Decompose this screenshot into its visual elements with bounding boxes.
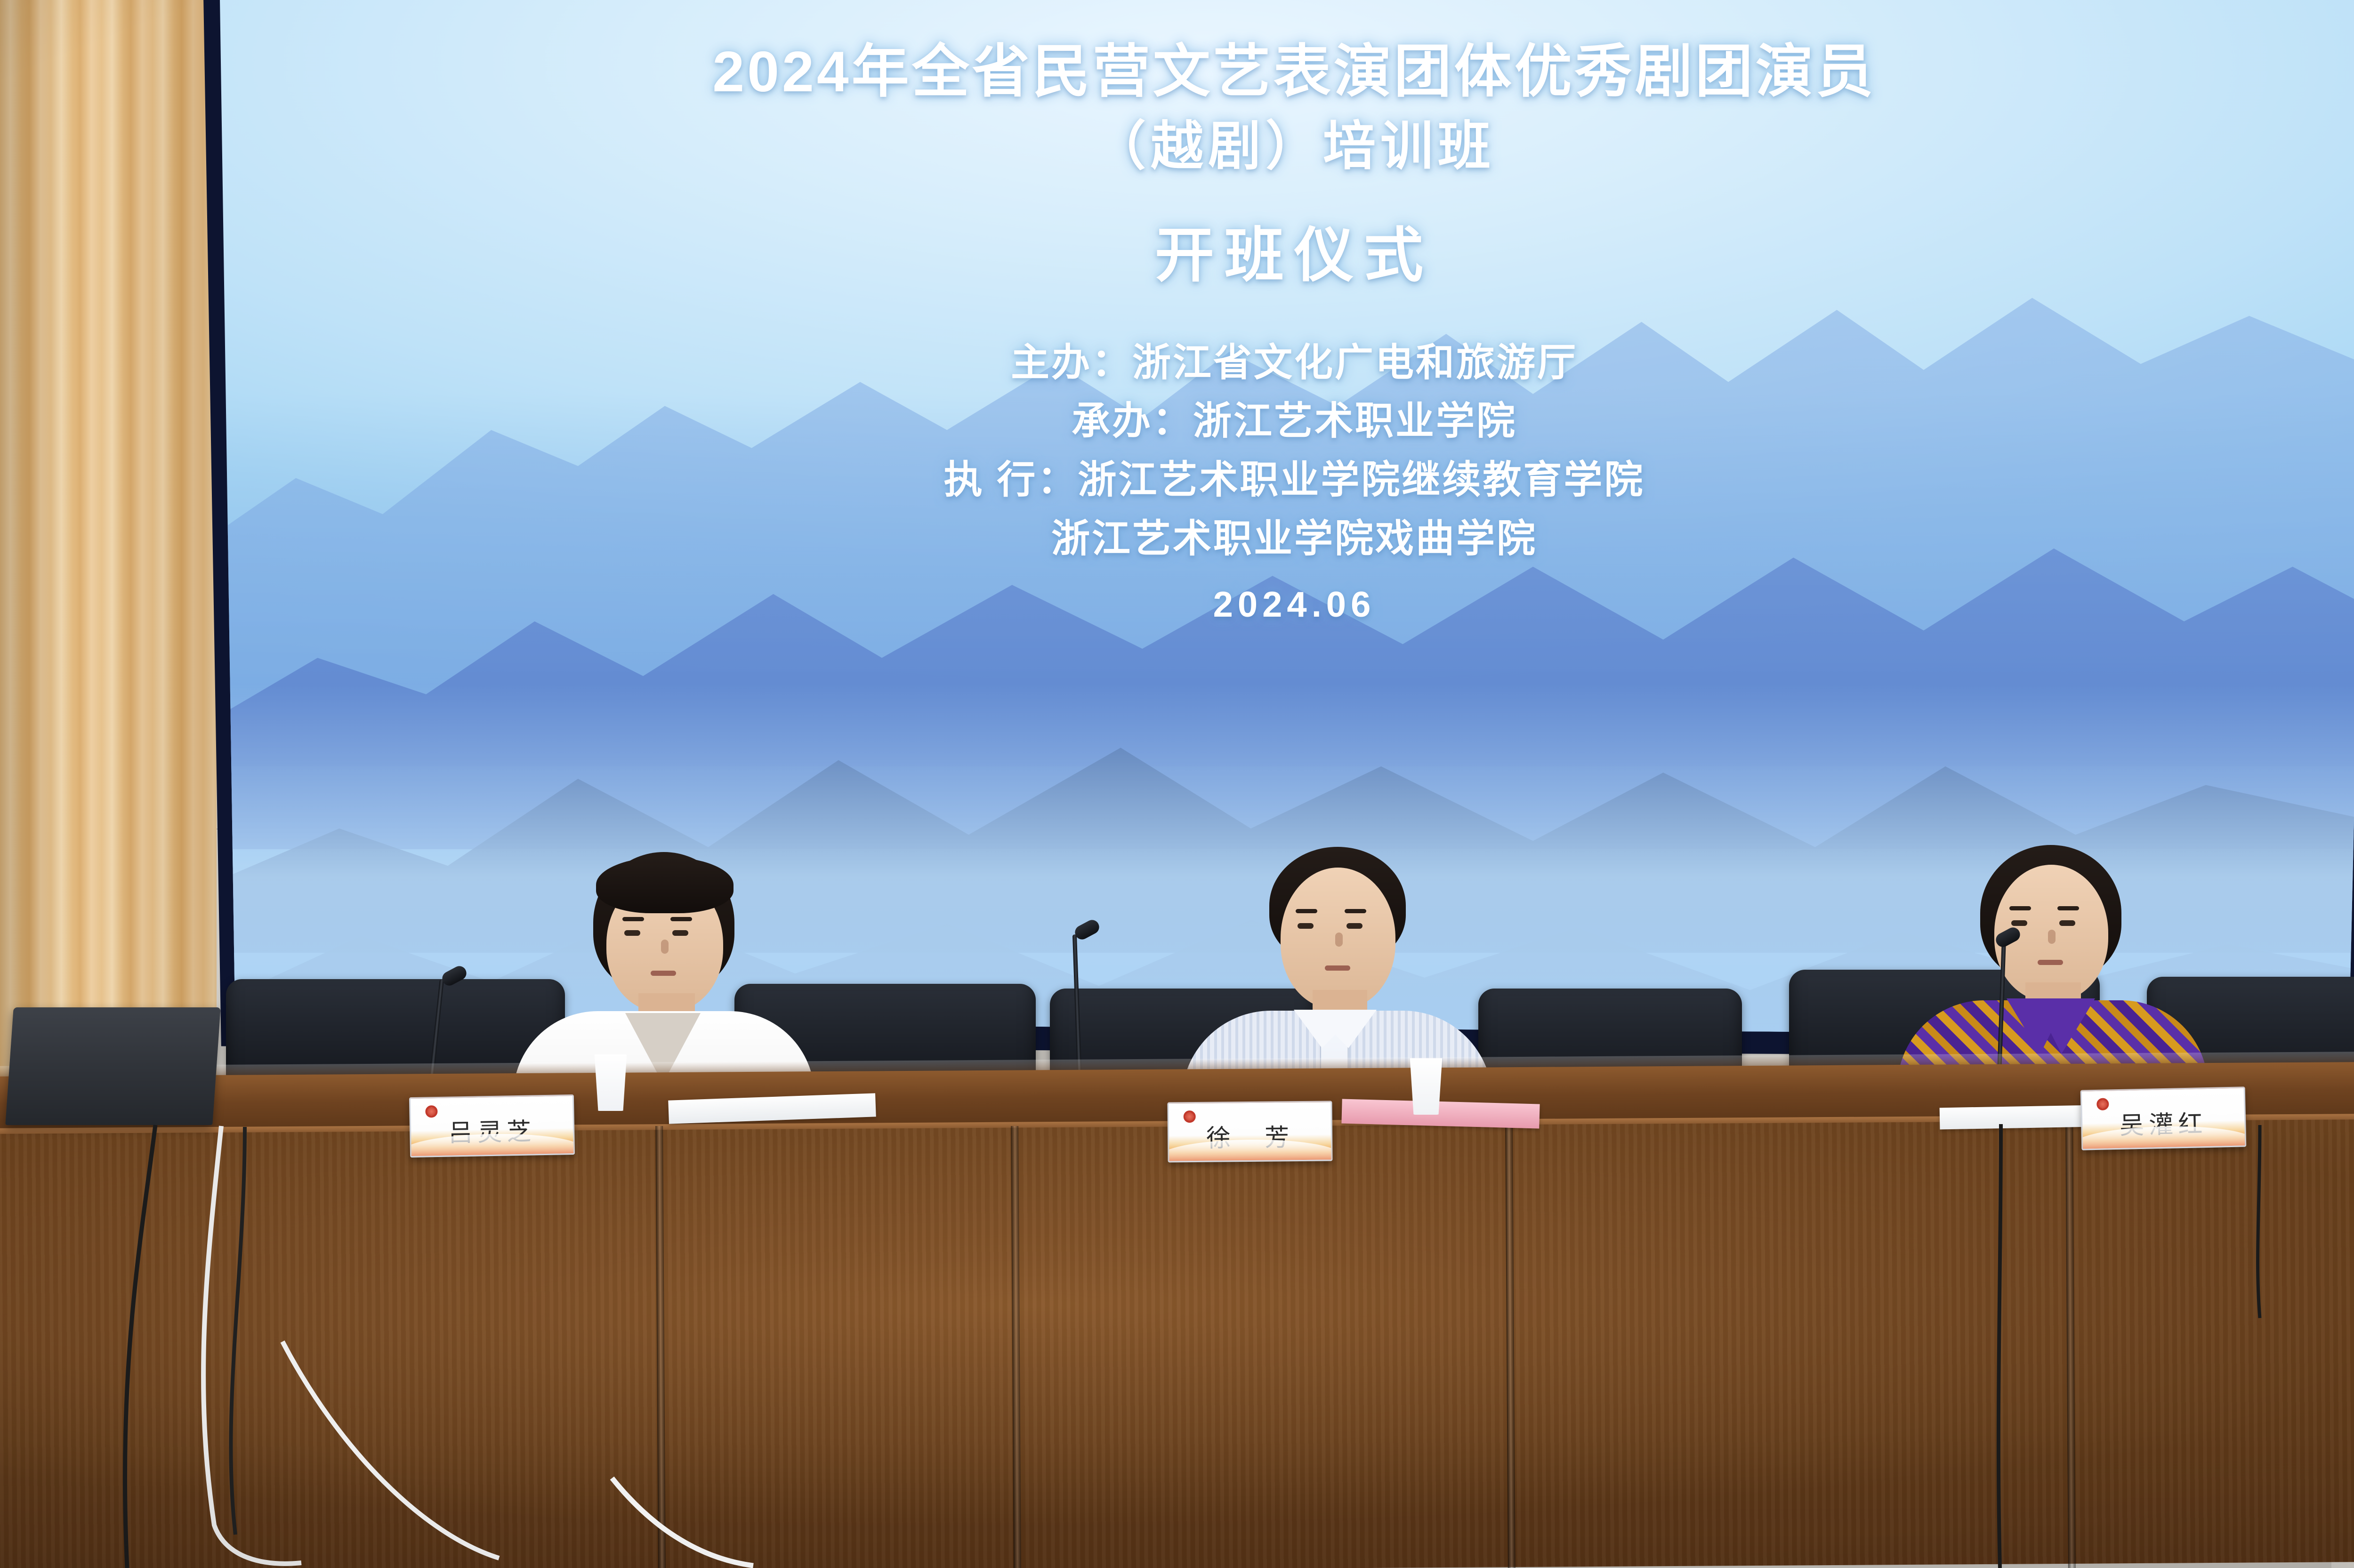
mouth xyxy=(651,971,676,976)
laptop[interactable] xyxy=(5,1007,220,1125)
brow-l xyxy=(1296,909,1317,913)
paper-cup-left[interactable] xyxy=(592,1054,629,1111)
paper-stack-center xyxy=(1341,1099,1540,1129)
brow-r xyxy=(1345,909,1366,913)
brow-l xyxy=(2009,906,2031,910)
mouth xyxy=(1325,965,1350,971)
credit-line-executor-2: 浙江艺术职业学院戏曲学院 xyxy=(209,510,2354,569)
mouth xyxy=(2038,960,2063,965)
fringe-left-person xyxy=(596,857,734,913)
eye-r xyxy=(1346,923,1362,929)
cable-right xyxy=(1930,1120,2354,1568)
paper-cup-center[interactable] xyxy=(1408,1058,1444,1115)
slide-ceremony-title: 开班仪式 xyxy=(209,208,2354,293)
slide-credits: 主办：浙江省文化广电和旅游厅 承办：浙江艺术职业学院 执 行：浙江艺术职业学院继… xyxy=(209,334,2354,569)
eye-r xyxy=(672,930,688,936)
slide-date: 2024.06 xyxy=(209,584,2354,625)
curtain-left xyxy=(0,0,217,1087)
credit-line-organizer: 主办：浙江省文化广电和旅游厅 xyxy=(209,334,2354,393)
eye-l xyxy=(1298,923,1314,929)
brow-r xyxy=(670,917,692,921)
slide-title-line-2: （越剧）培训班 xyxy=(209,107,2354,186)
eye-l xyxy=(2011,920,2027,926)
conference-photo: 2024年全省民营文艺表演团体优秀剧团演员 （越剧）培训班 开班仪式 主办：浙江… xyxy=(0,0,2354,1568)
slide-title-line-1: 2024年全省民营文艺表演团体优秀剧团演员 xyxy=(209,28,2354,107)
nose xyxy=(1335,933,1343,947)
credit-line-host: 承办：浙江艺术职业学院 xyxy=(209,392,2354,451)
eye-l xyxy=(624,930,640,936)
eye-r xyxy=(2059,920,2075,926)
nose xyxy=(2048,930,2056,944)
nameplate-center: 徐 芳 xyxy=(1167,1101,1332,1162)
credit-line-executor: 执 行：浙江艺术职业学院继续教育学院 xyxy=(209,451,2354,510)
brow-l xyxy=(622,917,644,921)
nose xyxy=(661,940,669,954)
brow-r xyxy=(2057,906,2079,910)
cable-bundle xyxy=(0,1120,1130,1568)
